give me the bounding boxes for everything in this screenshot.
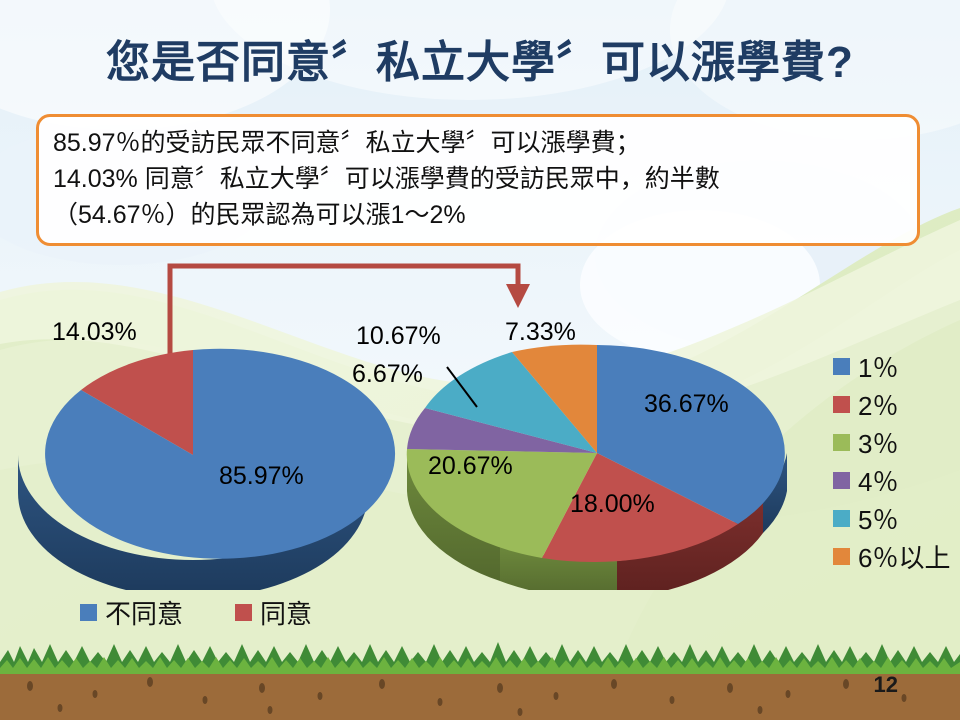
- pie-right-label-5: 10.67%: [356, 322, 441, 351]
- pie-left-label-agree: 14.03%: [52, 318, 137, 347]
- legend-swatch-6: [833, 548, 850, 565]
- pie-right-label-4: 6.67%: [352, 360, 423, 389]
- legend-label-1: 1％: [858, 348, 898, 385]
- legend-swatch-5: [833, 510, 850, 527]
- legend-item-1[interactable]: 1％: [833, 352, 950, 380]
- legend-item-disagree[interactable]: 不同意: [80, 594, 183, 631]
- summary-line-1: 85.97％的受訪民眾不同意〞私立大學〞可以漲學費；: [53, 125, 903, 161]
- legend-label-3: 3％: [858, 424, 898, 461]
- page-number: 12: [874, 672, 898, 698]
- pie-right-label-6: 7.33%: [505, 318, 576, 347]
- legend-item-4[interactable]: 4％: [833, 466, 950, 494]
- legend-swatch-disagree: [80, 604, 97, 621]
- pie-right-label-3: 20.67%: [428, 452, 513, 481]
- legend-label-5: 5％: [858, 500, 898, 537]
- legend-label-disagree: 不同意: [105, 594, 183, 631]
- agree-disagree-pie-chart: [0, 330, 400, 590]
- legend-label-2: 2％: [858, 386, 898, 423]
- pie-right-label-1: 36.67%: [644, 390, 729, 419]
- slide-canvas: 您是否同意〞私立大學〞可以漲學費? 85.97％的受訪民眾不同意〞私立大學〞可以…: [0, 0, 960, 720]
- summary-textbox: 85.97％的受訪民眾不同意〞私立大學〞可以漲學費； 14.03% 同意〞私立大…: [36, 114, 920, 246]
- pie-left-label-disagree: 85.97%: [219, 462, 304, 491]
- footer-decoration: [0, 634, 960, 720]
- legend-label-6: 6％以上: [858, 538, 950, 575]
- legend-tuition-increase: 1％ 2％ 3％ 4％ 5％ 6％以上: [833, 352, 950, 570]
- legend-swatch-2: [833, 396, 850, 413]
- legend-label-4: 4％: [858, 462, 898, 499]
- legend-item-5[interactable]: 5％: [833, 504, 950, 532]
- legend-item-3[interactable]: 3％: [833, 428, 950, 456]
- legend-swatch-1: [833, 358, 850, 375]
- page-title: 您是否同意〞私立大學〞可以漲學費?: [0, 26, 960, 90]
- legend-agree-disagree: 不同意 同意: [80, 594, 312, 631]
- legend-item-agree[interactable]: 同意: [235, 594, 312, 631]
- pie-right-label-2: 18.00%: [570, 490, 655, 519]
- legend-swatch-4: [833, 472, 850, 489]
- legend-swatch-agree: [235, 604, 252, 621]
- legend-swatch-3: [833, 434, 850, 451]
- summary-line-3: （54.67％）的民眾認為可以漲1～2%: [53, 197, 903, 233]
- summary-line-2: 14.03% 同意〞私立大學〞可以漲學費的受訪民眾中，約半數: [53, 161, 903, 197]
- legend-item-6[interactable]: 6％以上: [833, 542, 950, 570]
- legend-label-agree: 同意: [260, 594, 312, 631]
- legend-item-2[interactable]: 2％: [833, 390, 950, 418]
